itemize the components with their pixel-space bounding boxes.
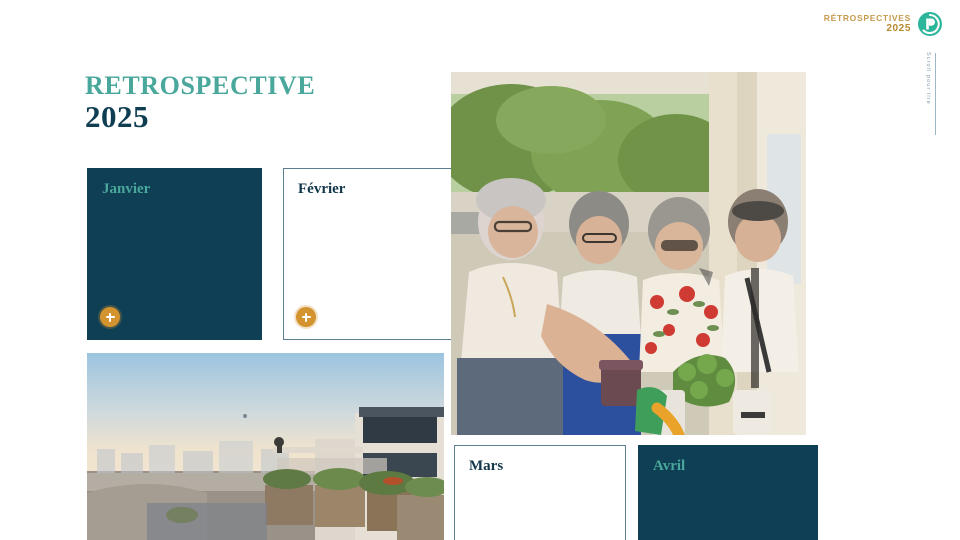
circle-p-logo-icon [917, 11, 943, 37]
month-card-label: Janvier [102, 181, 247, 198]
vertical-rule-icon [935, 53, 936, 135]
month-card-row-top: Janvier Février [87, 168, 464, 340]
scroll-hint-label: Scroll pour lire [925, 52, 931, 105]
month-card-label: Février [298, 181, 449, 198]
brand-title: RÉTROSPECTIVES [824, 14, 911, 23]
page-title-year: 2025 [85, 100, 315, 134]
plus-circle-icon[interactable] [296, 307, 316, 327]
scroll-hint: Scroll pour lire [925, 52, 936, 135]
brand-year: 2025 [824, 24, 911, 35]
month-card-row-bottom: Mars Avril [454, 445, 818, 540]
plus-circle-icon[interactable] [100, 307, 120, 327]
gardening-group-photo [451, 72, 806, 435]
month-card-mars[interactable]: Mars [454, 445, 626, 540]
page-title-main: RETROSPECTIVE [85, 72, 315, 99]
retrospective-slide: RÉTROSPECTIVES 2025 Scroll pour lire RET… [0, 0, 960, 540]
month-card-fevrier[interactable]: Février [283, 168, 464, 340]
page-title: RETROSPECTIVE 2025 [85, 72, 315, 134]
month-card-avril[interactable]: Avril [638, 445, 818, 540]
brand-logo[interactable]: RÉTROSPECTIVES 2025 [824, 11, 943, 37]
month-card-label: Mars [469, 458, 611, 475]
month-card-label: Avril [653, 458, 803, 475]
rooftop-terrace-photo [87, 353, 444, 540]
brand-text: RÉTROSPECTIVES 2025 [824, 14, 911, 34]
month-card-janvier[interactable]: Janvier [87, 168, 262, 340]
